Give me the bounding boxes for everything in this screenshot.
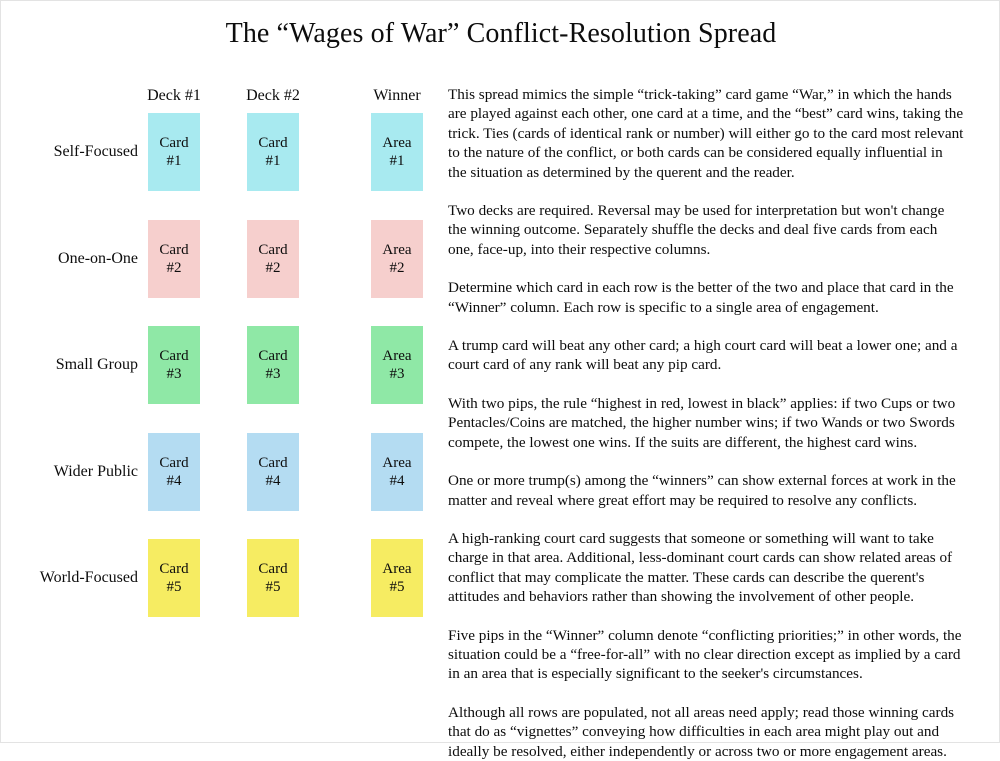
- card-deck-2-row-4[interactable]: Card#4: [247, 433, 299, 511]
- card-label-line2: #4: [390, 472, 405, 490]
- card-deck-1-row-2[interactable]: Card#2: [148, 220, 200, 298]
- card-label-line1: Area: [382, 560, 411, 578]
- spread-diagram: Deck #1 Deck #2 Winner Self-FocusedCard#…: [1, 1, 441, 744]
- document-page: The “Wages of War” Conflict-Resolution S…: [0, 0, 1000, 743]
- card-deck-1-row-3[interactable]: Card#3: [148, 326, 200, 404]
- card-label-line1: Area: [382, 454, 411, 472]
- card-deck-1-row-4[interactable]: Card#4: [148, 433, 200, 511]
- card-label-line1: Card: [258, 560, 287, 578]
- card-label-line1: Card: [159, 454, 188, 472]
- row-label-one-on-one: One-on-One: [18, 249, 138, 269]
- column-header-winner: Winner: [354, 87, 440, 105]
- row-label-small-group: Small Group: [18, 355, 138, 375]
- card-deck-1-row-5[interactable]: Card#5: [148, 539, 200, 617]
- card-winner-row-3[interactable]: Area#3: [371, 326, 423, 404]
- card-label-line2: #2: [390, 259, 405, 277]
- card-label-line2: #3: [167, 365, 182, 383]
- card-label-line1: Card: [258, 454, 287, 472]
- card-winner-row-5[interactable]: Area#5: [371, 539, 423, 617]
- instruction-paragraph: Determine which card in each row is the …: [448, 278, 964, 317]
- card-winner-row-1[interactable]: Area#1: [371, 113, 423, 191]
- card-label-line2: #2: [167, 259, 182, 277]
- card-label-line2: #5: [266, 578, 281, 596]
- card-deck-2-row-5[interactable]: Card#5: [247, 539, 299, 617]
- card-winner-row-4[interactable]: Area#4: [371, 433, 423, 511]
- card-label-line1: Card: [258, 347, 287, 365]
- card-label-line2: #1: [266, 152, 281, 170]
- card-label-line1: Card: [159, 134, 188, 152]
- card-deck-2-row-3[interactable]: Card#3: [247, 326, 299, 404]
- card-winner-row-2[interactable]: Area#2: [371, 220, 423, 298]
- instruction-paragraph: One or more trump(s) among the “winners”…: [448, 471, 964, 510]
- instruction-paragraph: This spread mimics the simple “trick-tak…: [448, 85, 964, 182]
- card-label-line2: #4: [266, 472, 281, 490]
- card-label-line2: #3: [266, 365, 281, 383]
- instruction-paragraph: Although all rows are populated, not all…: [448, 703, 964, 761]
- column-header-deck-1: Deck #1: [131, 87, 217, 105]
- row-label-self-focused: Self-Focused: [18, 142, 138, 162]
- card-label-line2: #4: [167, 472, 182, 490]
- card-label-line2: #5: [167, 578, 182, 596]
- column-header-deck-2: Deck #2: [230, 87, 316, 105]
- card-label-line1: Area: [382, 347, 411, 365]
- instruction-paragraph: A trump card will beat any other card; a…: [448, 336, 964, 375]
- card-label-line2: #2: [266, 259, 281, 277]
- card-label-line1: Card: [258, 241, 287, 259]
- card-label-line1: Card: [159, 241, 188, 259]
- card-label-line2: #1: [390, 152, 405, 170]
- card-deck-2-row-1[interactable]: Card#1: [247, 113, 299, 191]
- card-label-line2: #1: [167, 152, 182, 170]
- card-deck-1-row-1[interactable]: Card#1: [148, 113, 200, 191]
- card-label-line1: Card: [159, 347, 188, 365]
- card-label-line1: Area: [382, 241, 411, 259]
- card-label-line1: Card: [258, 134, 287, 152]
- instruction-paragraph: With two pips, the rule “highest in red,…: [448, 394, 964, 452]
- instruction-paragraph: Two decks are required. Reversal may be …: [448, 201, 964, 259]
- instruction-paragraph: A high-ranking court card suggests that …: [448, 529, 964, 607]
- card-label-line1: Area: [382, 134, 411, 152]
- row-label-wider-public: Wider Public: [18, 462, 138, 482]
- card-deck-2-row-2[interactable]: Card#2: [247, 220, 299, 298]
- card-label-line1: Card: [159, 560, 188, 578]
- row-label-world-focused: World-Focused: [18, 568, 138, 588]
- card-label-line2: #5: [390, 578, 405, 596]
- instructions-text: This spread mimics the simple “trick-tak…: [448, 85, 964, 761]
- card-label-line2: #3: [390, 365, 405, 383]
- instruction-paragraph: Five pips in the “Winner” column denote …: [448, 626, 964, 684]
